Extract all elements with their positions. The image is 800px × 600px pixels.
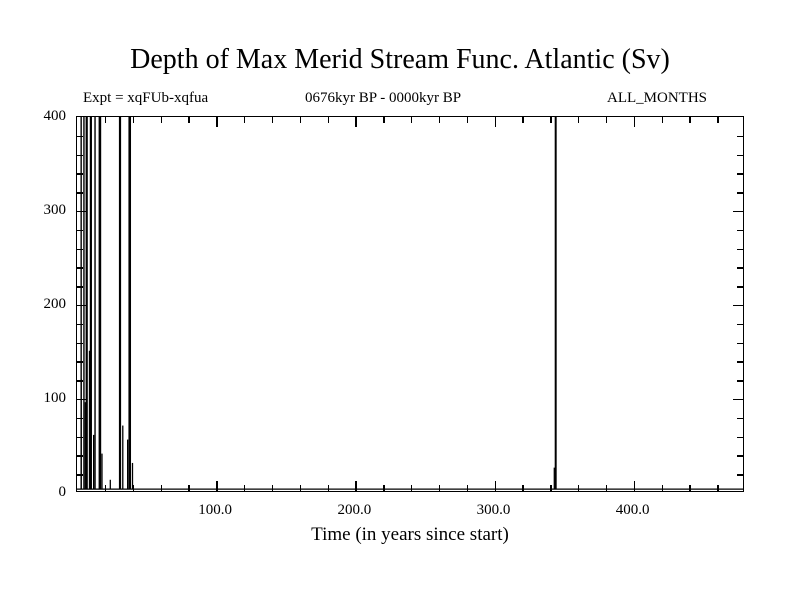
x-tick-top (550, 117, 551, 123)
x-tick-label: 100.0 (198, 501, 232, 519)
x-tick-bottom (495, 481, 496, 491)
y-tick-left (77, 173, 83, 174)
y-tick-left (77, 380, 83, 381)
data-series-canvas (77, 117, 743, 491)
y-tick-right (737, 437, 743, 438)
figure-canvas: Depth of Max Merid Stream Func. Atlantic… (0, 0, 800, 600)
x-tick-top (689, 117, 690, 123)
y-tick-left (77, 455, 83, 456)
y-tick-right (733, 399, 743, 400)
x-tick-bottom (328, 485, 329, 491)
x-tick-top (578, 117, 579, 123)
y-tick-right (733, 305, 743, 306)
y-tick-left (77, 474, 83, 475)
page-title: Depth of Max Merid Stream Func. Atlantic… (0, 44, 800, 76)
x-tick-top (662, 117, 663, 123)
y-tick-right (737, 249, 743, 250)
y-tick-left (77, 192, 83, 193)
x-tick-top (272, 117, 273, 123)
y-tick-right (737, 267, 743, 268)
y-tick-right (737, 474, 743, 475)
y-tick-left (77, 343, 83, 344)
x-tick-bottom (383, 485, 384, 491)
x-tick-top (411, 117, 412, 123)
y-tick-left (77, 418, 83, 419)
y-tick-right (733, 211, 743, 212)
x-tick-top (606, 117, 607, 123)
x-tick-bottom (216, 481, 217, 491)
y-tick-left (77, 305, 87, 306)
data-series (77, 117, 743, 489)
x-tick-bottom (634, 481, 635, 491)
y-tick-right (737, 155, 743, 156)
x-tick-label: 400.0 (616, 501, 650, 519)
x-tick-top (717, 117, 718, 123)
x-tick-top (133, 117, 134, 123)
y-tick-left (77, 361, 83, 362)
plot-area (76, 116, 744, 492)
x-tick-top (495, 117, 496, 127)
x-tick-label: 300.0 (477, 501, 511, 519)
y-tick-right (737, 136, 743, 137)
x-tick-label: 200.0 (337, 501, 371, 519)
y-tick-left (77, 211, 87, 212)
x-tick-bottom (244, 485, 245, 491)
x-tick-top (467, 117, 468, 123)
y-tick-right (737, 173, 743, 174)
x-tick-bottom (161, 485, 162, 491)
x-tick-bottom (662, 485, 663, 491)
y-tick-right (737, 192, 743, 193)
y-tick-right (737, 418, 743, 419)
x-tick-bottom (272, 485, 273, 491)
y-tick-right (737, 455, 743, 456)
x-tick-bottom (411, 485, 412, 491)
y-tick-label: 100 (0, 389, 66, 407)
subtitle-experiment: Expt = xqFUb-xqfua (83, 89, 208, 108)
x-tick-top (383, 117, 384, 123)
y-tick-left (77, 286, 83, 287)
x-tick-bottom (105, 485, 106, 491)
y-tick-label: 200 (0, 295, 66, 313)
x-tick-bottom (300, 485, 301, 491)
y-tick-right (737, 343, 743, 344)
x-tick-top (355, 117, 356, 127)
x-tick-bottom (689, 485, 690, 491)
y-tick-left (77, 249, 83, 250)
x-tick-top (105, 117, 106, 123)
y-tick-right (737, 230, 743, 231)
y-tick-left (77, 267, 83, 268)
x-tick-bottom (550, 485, 551, 491)
x-tick-top (300, 117, 301, 123)
x-tick-bottom (355, 481, 356, 491)
subtitle-period: 0676kyr BP - 0000kyr BP (305, 89, 461, 108)
x-tick-top (439, 117, 440, 123)
y-tick-right (737, 324, 743, 325)
y-tick-right (737, 361, 743, 362)
x-tick-bottom (522, 485, 523, 491)
x-tick-top (634, 117, 635, 127)
subtitle-months: ALL_MONTHS (607, 89, 707, 108)
x-tick-bottom (606, 485, 607, 491)
y-tick-left (77, 155, 83, 156)
x-tick-bottom (133, 485, 134, 491)
y-tick-left (77, 230, 83, 231)
x-tick-bottom (578, 485, 579, 491)
x-tick-top (522, 117, 523, 123)
x-tick-top (188, 117, 189, 123)
y-tick-left (77, 324, 83, 325)
x-tick-bottom (717, 485, 718, 491)
y-tick-label: 400 (0, 107, 66, 125)
y-tick-left (77, 399, 87, 400)
x-tick-top (328, 117, 329, 123)
x-tick-top (161, 117, 162, 123)
y-tick-label: 0 (0, 483, 66, 501)
y-tick-right (737, 380, 743, 381)
x-axis-title: Time (in years since start) (76, 523, 744, 546)
x-tick-bottom (188, 485, 189, 491)
x-tick-top (244, 117, 245, 123)
x-tick-top (216, 117, 217, 127)
y-tick-left (77, 437, 83, 438)
y-tick-right (737, 286, 743, 287)
x-tick-bottom (467, 485, 468, 491)
y-tick-left (77, 136, 83, 137)
x-tick-bottom (439, 485, 440, 491)
y-tick-label: 300 (0, 201, 66, 219)
